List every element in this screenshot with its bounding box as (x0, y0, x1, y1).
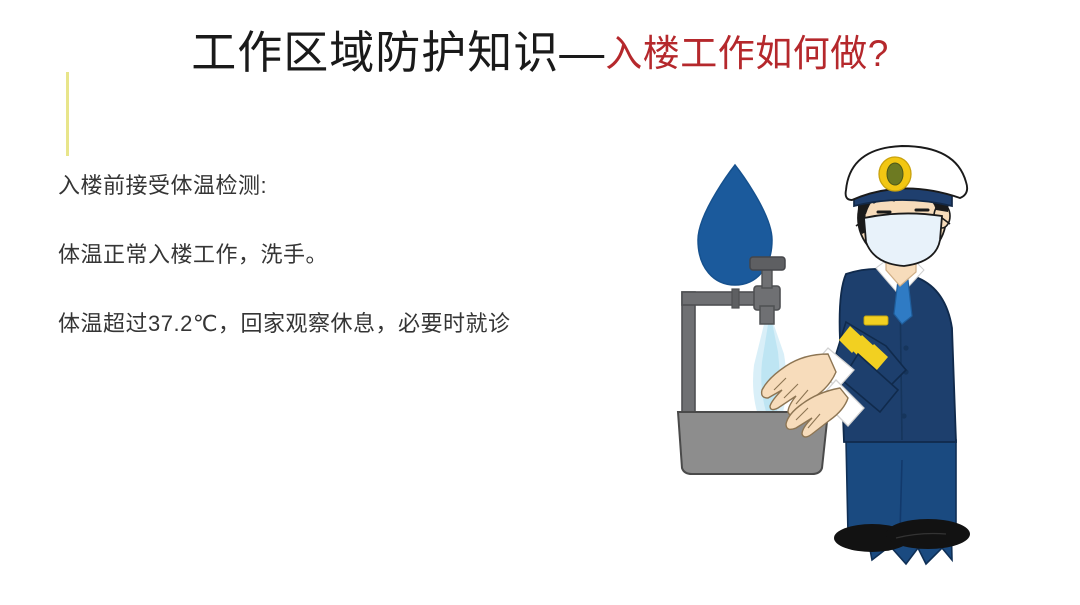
necktie (894, 280, 912, 324)
slide-canvas: 工作区域防护知识—入楼工作如何做? 入楼前接受体温检测: 体温正常入楼工作，洗手… (0, 0, 1080, 605)
officer-figure (762, 146, 970, 564)
page-title-accent: 入楼工作如何做? (605, 33, 889, 74)
accent-bar (66, 72, 69, 156)
chest-badge (864, 316, 888, 325)
body-line-3: 体温超过37.2℃，回家观察休息，必要时就诊 (58, 306, 648, 338)
face-mask (856, 213, 950, 266)
body-line-2: 体温正常入楼工作，洗手。 (58, 237, 648, 269)
handwashing-illustration: 勤 洗 手 (650, 140, 1050, 590)
cap-badge-icon (879, 157, 911, 191)
water-spray (753, 308, 786, 426)
page-title-main: 工作区域防护知识— (191, 27, 605, 78)
body-text-block: 入楼前接受体温检测: 体温正常入楼工作，洗手。 体温超过37.2℃，回家观察休息… (58, 168, 648, 375)
page-title: 工作区域防护知识—入楼工作如何做? (0, 28, 1080, 78)
body-line-1: 入楼前接受体温检测: (58, 168, 648, 200)
